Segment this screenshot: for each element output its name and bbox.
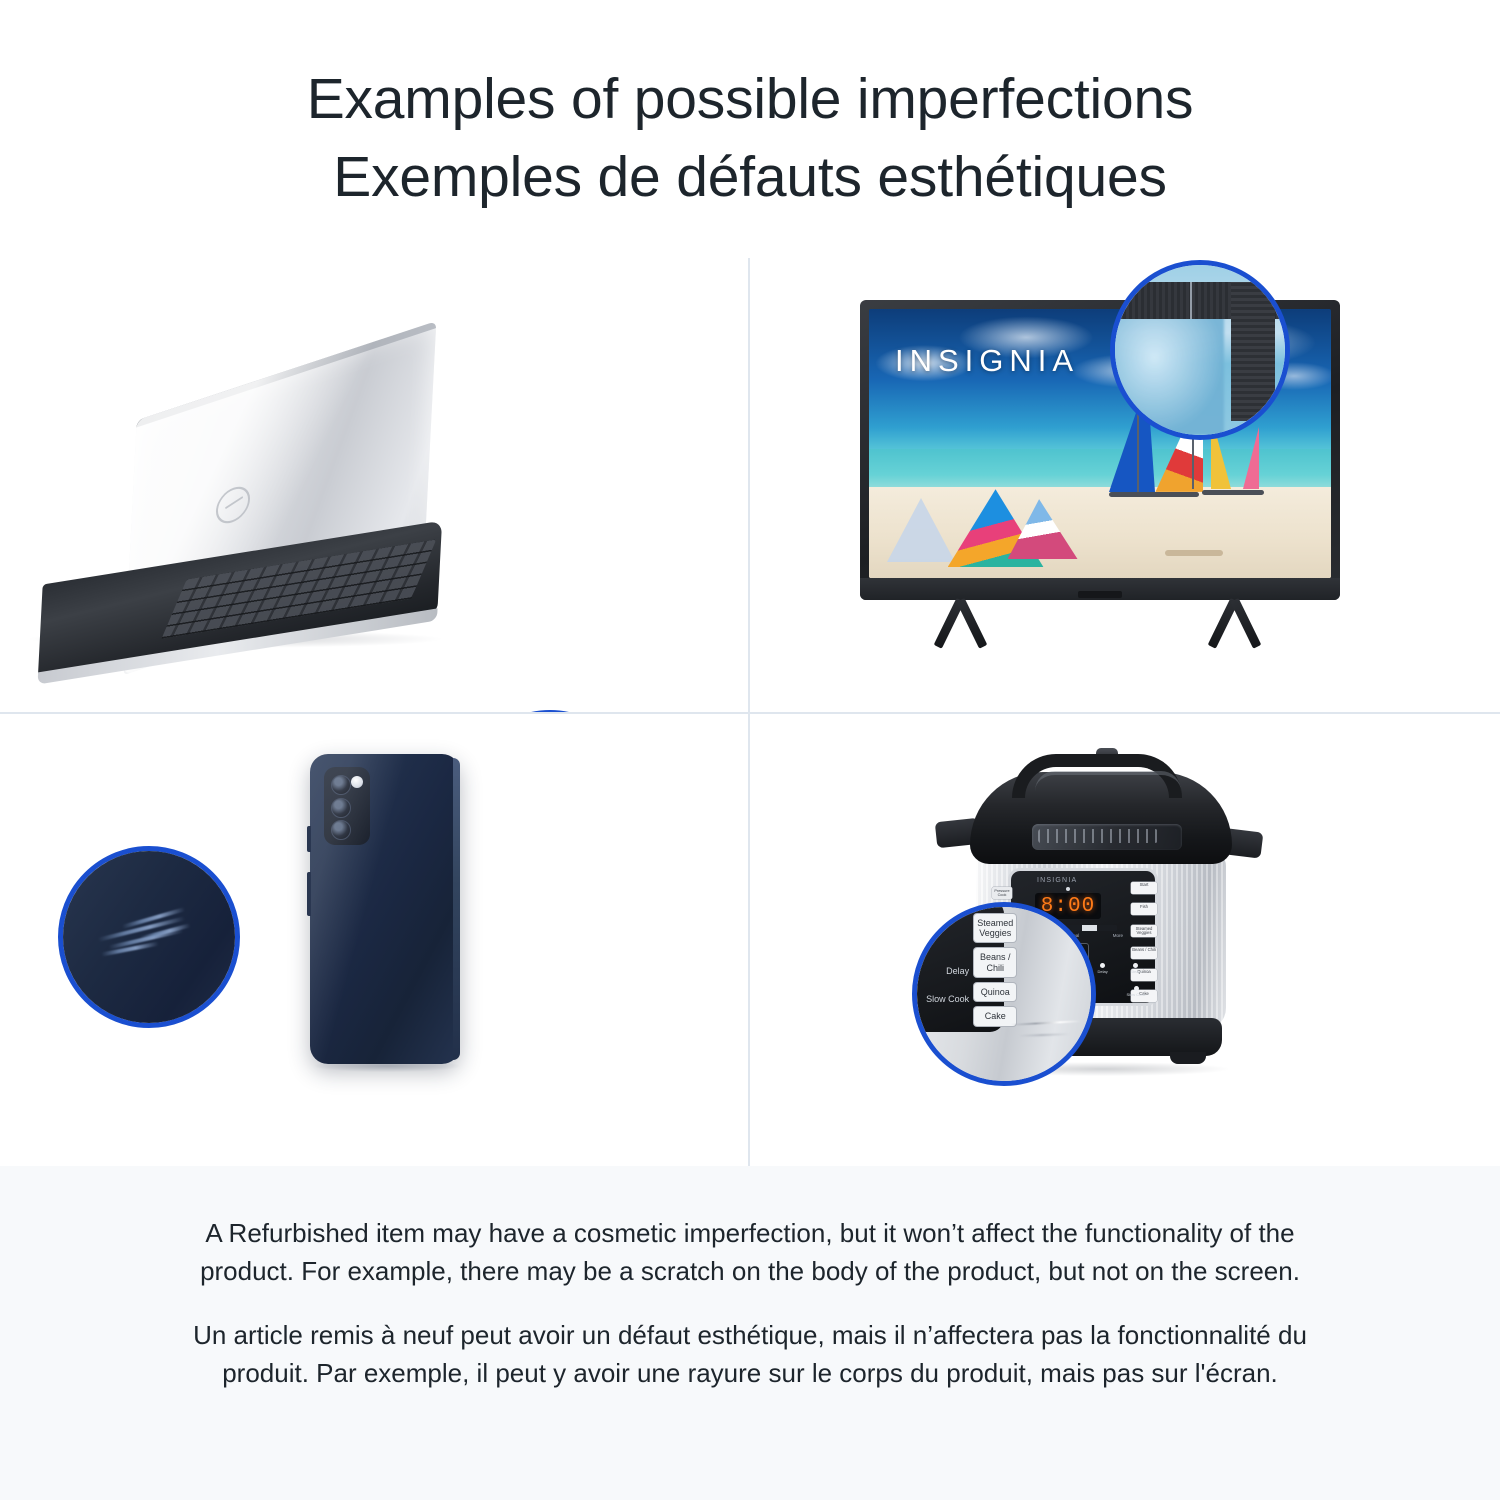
laptop-graphic bbox=[20, 368, 500, 668]
screen-boat-hull bbox=[1109, 492, 1199, 497]
phone-camera-module bbox=[324, 767, 370, 845]
cooker-button-steamed-veggies[interactable]: Steamed Veggies bbox=[1131, 925, 1157, 937]
scratch-mark bbox=[1018, 1033, 1070, 1037]
magnifier-tv-scratch bbox=[1110, 260, 1290, 440]
cooker-button-slow-cook-center[interactable]: Slow Cook bbox=[1121, 986, 1151, 997]
phone-button-volume bbox=[307, 872, 311, 916]
description-french: Un article remis à neuf peut avoir un dé… bbox=[180, 1316, 1320, 1392]
magnified-label-delay: Delay bbox=[920, 966, 969, 976]
cooker-lid-vent bbox=[1032, 824, 1182, 850]
pressure-label-more: More bbox=[1113, 933, 1123, 938]
magnified-bezel-right bbox=[1231, 282, 1275, 421]
title-line-french: Exemples de défauts esthétiques bbox=[0, 138, 1500, 216]
phone-side-edge bbox=[453, 758, 460, 1060]
cooker-button-beans-chili[interactable]: Beans / Chili bbox=[1131, 947, 1157, 959]
camera-flash-icon bbox=[351, 776, 363, 788]
footer-description: A Refurbished item may have a cosmetic i… bbox=[0, 1166, 1500, 1500]
phone-illustration bbox=[0, 714, 748, 1166]
screen-sail-white bbox=[887, 498, 955, 562]
description-english: A Refurbished item may have a cosmetic i… bbox=[180, 1214, 1320, 1290]
tv-brand-text: INSIGNIA bbox=[895, 343, 1079, 379]
tv-bottom-bezel bbox=[860, 578, 1340, 600]
cooker-button-start[interactable]: Start bbox=[1131, 882, 1157, 894]
cooker-button-steam[interactable]: Steam bbox=[1121, 963, 1151, 974]
screen-sea bbox=[869, 449, 1331, 492]
magnified-button-steamed-veggies[interactable]: Steamed Veggies bbox=[974, 914, 1016, 943]
imperfections-infographic: Examples of possible imperfections Exemp… bbox=[0, 0, 1500, 1500]
screen-boat-hull bbox=[1202, 490, 1264, 495]
screen-sailboat-pink bbox=[1243, 427, 1259, 489]
cooker-button-delay-label: Delay bbox=[1098, 969, 1108, 974]
tv-leg-left bbox=[922, 600, 1002, 652]
magnifier-cooker-surface: Delay Slow Cook Steamed Veggies Beans / … bbox=[917, 907, 1091, 1081]
camera-lens-icon bbox=[331, 775, 351, 795]
phone-button-power bbox=[307, 826, 311, 852]
title-line-english: Examples of possible imperfections bbox=[0, 60, 1500, 138]
magnifier-cooker-scratch: Delay Slow Cook Steamed Veggies Beans / … bbox=[912, 902, 1096, 1086]
cooker-lid-handle bbox=[1012, 754, 1182, 798]
magnified-label-slow-cook: Slow Cook bbox=[920, 994, 969, 1004]
scratch-mark bbox=[1190, 282, 1192, 319]
cooker-brand-text: INSIGNIA bbox=[1037, 877, 1077, 884]
panel-phone bbox=[0, 712, 748, 1166]
tv-illustration: INSIGNIA bbox=[750, 258, 1500, 712]
cooker-indicator-light bbox=[1066, 887, 1070, 891]
laptop-illustration bbox=[0, 258, 748, 712]
panel-pressure-cooker: INSIGNIA 8:00 Low Normal More 8:00 bbox=[748, 712, 1500, 1166]
scratch-mark bbox=[1011, 1020, 1081, 1026]
magnified-button-quinoa[interactable]: Quinoa bbox=[974, 983, 1016, 1001]
pressure-cooker-illustration: INSIGNIA 8:00 Low Normal More 8:00 bbox=[750, 714, 1500, 1166]
tv-leg-right bbox=[1196, 600, 1276, 652]
camera-lens-icon bbox=[331, 798, 351, 818]
cooker-button-steam-label: Steam bbox=[1130, 969, 1142, 974]
phone-body bbox=[310, 754, 460, 1064]
examples-grid: INSIGNIA bbox=[0, 258, 1500, 1166]
magnified-left-labels: Delay Slow Cook bbox=[920, 966, 969, 1004]
magnified-button-column: Steamed Veggies Beans / Chili Quinoa Cak… bbox=[969, 910, 1021, 1028]
page-title: Examples of possible imperfections Exemp… bbox=[0, 60, 1500, 216]
magnifier-phone-surface bbox=[63, 851, 235, 1023]
magnifier-phone-scratch bbox=[58, 846, 240, 1028]
screen-beach-object bbox=[1165, 550, 1223, 556]
magnified-screen-area bbox=[1110, 316, 1224, 435]
panel-tv: INSIGNIA bbox=[748, 258, 1500, 712]
tv-ir-sensor bbox=[1078, 591, 1122, 598]
cooker-foot bbox=[1170, 1052, 1206, 1064]
panel-laptop bbox=[0, 258, 748, 712]
magnified-button-beans-chili[interactable]: Beans / Chili bbox=[974, 948, 1016, 977]
cooker-button-fish[interactable]: Fish bbox=[1131, 903, 1157, 915]
magnifier-tv-surface bbox=[1115, 265, 1285, 435]
camera-lens-icon bbox=[331, 820, 351, 840]
cooker-button-slow-cook-center-label: Slow Cook bbox=[1126, 992, 1145, 997]
cooker-button-pressure-cook[interactable]: Pressure Cook bbox=[992, 887, 1012, 899]
phone-graphic bbox=[270, 754, 530, 1134]
